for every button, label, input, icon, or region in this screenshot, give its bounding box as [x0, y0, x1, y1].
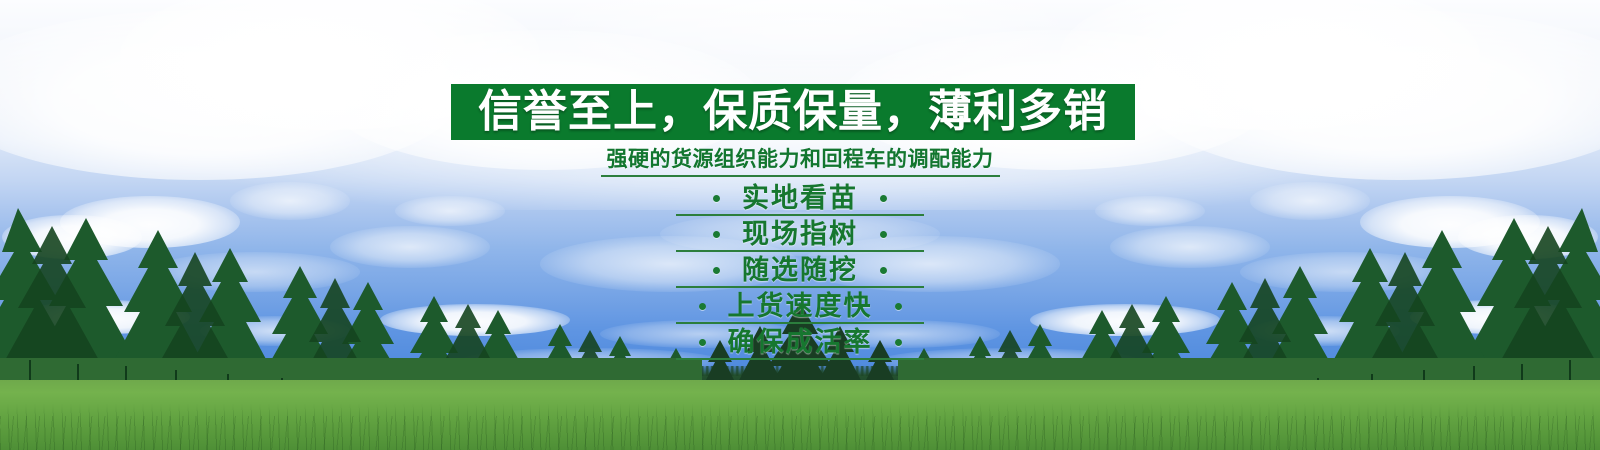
- bullet-dot-left-icon: [699, 339, 706, 346]
- bullet-dot-left-icon: [713, 231, 720, 238]
- feature-label: 现场指树: [742, 221, 858, 248]
- headline-bar: 信誉至上，保质保量，薄利多销: [451, 84, 1135, 140]
- feature-item-3: 随选随挖: [0, 252, 1600, 288]
- bullet-dot-left-icon: [713, 195, 720, 202]
- subtitle-container: 强硬的货源组织能力和回程车的调配能力: [0, 146, 1600, 177]
- bullet-dot-right-icon: [880, 231, 887, 238]
- feature-item-2: 现场指树: [0, 216, 1600, 252]
- feature-divider: [676, 358, 924, 360]
- feature-item-5: 确保成活率: [0, 324, 1600, 360]
- feature-label: 上货速度快: [728, 293, 873, 320]
- headline-text: 信誉至上，保质保量，薄利多销: [478, 90, 1108, 134]
- feature-list: 实地看苗 现场指树 随选随挖 上货速度快: [0, 180, 1600, 360]
- banner-content: 信誉至上，保质保量，薄利多销 强硬的货源组织能力和回程车的调配能力 实地看苗 现…: [0, 0, 1600, 450]
- feature-label: 实地看苗: [742, 185, 858, 212]
- bullet-dot-right-icon: [895, 303, 902, 310]
- feature-item-4: 上货速度快: [0, 288, 1600, 324]
- bullet-dot-right-icon: [895, 339, 902, 346]
- promo-banner: 信誉至上，保质保量，薄利多销 强硬的货源组织能力和回程车的调配能力 实地看苗 现…: [0, 0, 1600, 450]
- bullet-dot-right-icon: [880, 267, 887, 274]
- bullet-dot-left-icon: [713, 267, 720, 274]
- bullet-dot-right-icon: [880, 195, 887, 202]
- feature-label: 随选随挖: [742, 257, 858, 284]
- feature-item-1: 实地看苗: [0, 180, 1600, 216]
- feature-label: 确保成活率: [728, 329, 873, 356]
- subtitle-text: 强硬的货源组织能力和回程车的调配能力: [601, 146, 1000, 177]
- bullet-dot-left-icon: [699, 303, 706, 310]
